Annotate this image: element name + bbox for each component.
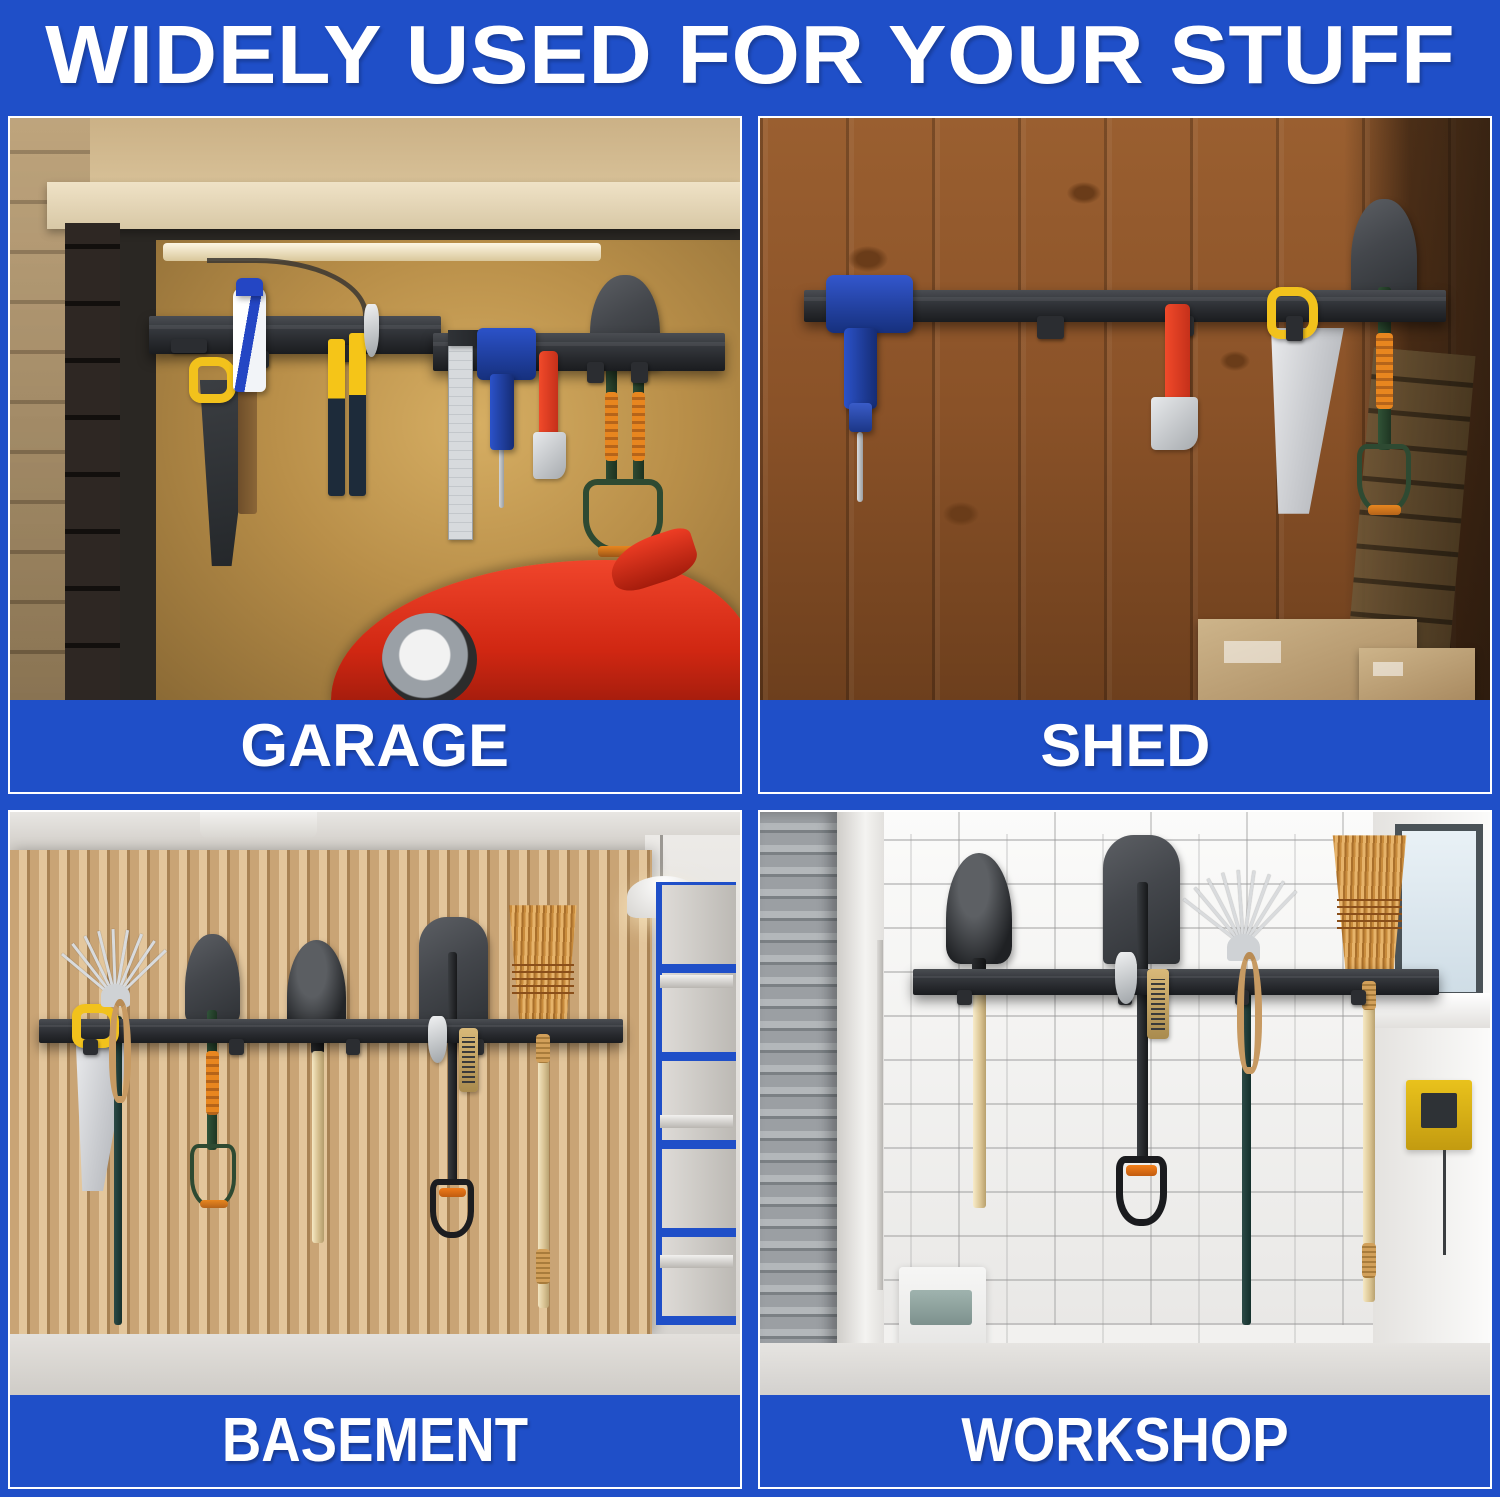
basement-photo xyxy=(10,812,740,1395)
rail-hook xyxy=(171,339,208,353)
wall-conduit xyxy=(877,940,883,1290)
shovel-d-handle xyxy=(190,1144,236,1208)
shelf-board xyxy=(660,975,733,988)
lamp-cord xyxy=(660,835,663,882)
basement-ceiling xyxy=(10,812,740,853)
caption-label: SHED xyxy=(1040,716,1210,776)
ceiling-vent xyxy=(200,812,317,838)
broom-handle-wrap-lower xyxy=(536,1249,550,1284)
rake-rope xyxy=(1237,952,1262,1074)
utility-hook xyxy=(1115,952,1137,1004)
shovel-wood-handle xyxy=(312,1051,324,1243)
garage-lintel xyxy=(47,182,741,229)
wood-knot xyxy=(848,246,888,272)
stone-wall-dark xyxy=(65,223,120,700)
roller-shutter-door xyxy=(760,812,837,1395)
broom-handle-wrap xyxy=(536,1034,550,1063)
digger-grip xyxy=(632,392,645,462)
hand-saw-handle xyxy=(189,357,236,404)
rail-hook xyxy=(957,990,972,1005)
shelf-board xyxy=(660,1115,733,1128)
wood-knot xyxy=(943,502,979,526)
shovel-wood-handle xyxy=(973,981,985,1208)
drill-bit xyxy=(857,432,863,502)
power-tool-body xyxy=(233,287,267,392)
rail-hook xyxy=(1037,316,1063,339)
window-ledge xyxy=(1373,993,1490,1028)
rake-rope xyxy=(109,999,131,1104)
panel-basement: BASEMENT xyxy=(0,802,750,1497)
hammer-drill-body xyxy=(477,328,535,380)
caption-label: GARAGE xyxy=(241,716,510,776)
hammer-drill-body xyxy=(826,275,914,333)
workshop-floor xyxy=(760,1343,1490,1395)
adjustable-wrench-jaw xyxy=(1151,397,1198,449)
adjustable-wrench-handle xyxy=(1165,304,1190,409)
rail-hook xyxy=(83,1039,98,1054)
workshop-photo xyxy=(760,812,1490,1395)
chisel xyxy=(328,339,345,496)
control-panel-screen xyxy=(910,1290,972,1325)
page-title: WIDELY USED FOR YOUR STUFF xyxy=(45,13,1455,96)
flat-shovel-grip xyxy=(439,1188,465,1197)
cardboard-box xyxy=(1359,648,1476,700)
panel-workshop: WORKSHOP xyxy=(750,802,1500,1497)
flat-shovel-shaft xyxy=(448,952,457,1185)
square-ruler xyxy=(448,342,473,540)
hammer-drill-grip xyxy=(844,328,877,409)
caption-basement: BASEMENT xyxy=(10,1395,740,1487)
rail-accessory xyxy=(364,304,379,356)
shelf-board xyxy=(660,1255,733,1268)
chisel xyxy=(349,333,366,496)
caption-label: BASEMENT xyxy=(222,1410,528,1472)
flat-shovel-grip xyxy=(1126,1165,1157,1177)
rail-hook xyxy=(346,1039,361,1054)
digger-grip xyxy=(605,392,618,462)
shed-photo xyxy=(760,118,1490,700)
caption-garage: GARAGE xyxy=(10,700,740,792)
power-tool-bits xyxy=(238,386,257,514)
rail-hook xyxy=(587,362,605,383)
car-wheel xyxy=(382,613,477,700)
wood-knot xyxy=(1067,182,1101,204)
rail-hook xyxy=(631,362,649,383)
drill-bit xyxy=(499,444,504,508)
device-cord xyxy=(1443,1150,1446,1255)
broom-stitching xyxy=(512,964,573,999)
wire-brush xyxy=(1147,969,1169,1039)
caption-label: WORKSHOP xyxy=(961,1410,1288,1472)
shovel-crossbar-grip xyxy=(200,1200,228,1208)
caption-shed: SHED xyxy=(760,700,1490,792)
broom-stitching xyxy=(1337,899,1403,934)
garage-photo xyxy=(10,118,740,700)
flat-shovel-shaft xyxy=(1137,882,1148,1162)
broom-handle-wrap-lower xyxy=(1362,1243,1377,1278)
poster: WIDELY USED FOR YOUR STUFF xyxy=(0,0,1500,1497)
shovel-d-handle xyxy=(1357,444,1411,514)
rail-hook xyxy=(229,1039,244,1054)
shovel-grip-wrap xyxy=(206,1051,220,1115)
power-tool-cap xyxy=(236,278,262,295)
utility-hook xyxy=(428,1016,447,1063)
basement-floor xyxy=(10,1334,740,1395)
rail-hook xyxy=(1286,316,1304,342)
shovel-crossbar-grip xyxy=(1368,505,1401,515)
shovel-grip-wrap xyxy=(1376,333,1393,409)
panel-grid: GARAGE xyxy=(0,108,1500,1497)
yellow-wall-device xyxy=(1406,1080,1472,1150)
header-banner: WIDELY USED FOR YOUR STUFF xyxy=(0,0,1500,108)
drill-chuck xyxy=(849,403,872,432)
panel-shed: SHED xyxy=(750,108,1500,802)
hammer-drill-grip xyxy=(490,374,513,450)
wire-brush xyxy=(459,1028,478,1092)
caption-workshop: WORKSHOP xyxy=(760,1395,1490,1487)
adjustable-wrench-handle xyxy=(539,351,558,444)
rail-hook xyxy=(1351,990,1366,1005)
adjustable-wrench-jaw xyxy=(533,432,567,479)
panel-garage: GARAGE xyxy=(0,108,750,802)
wood-knot xyxy=(1220,351,1250,371)
